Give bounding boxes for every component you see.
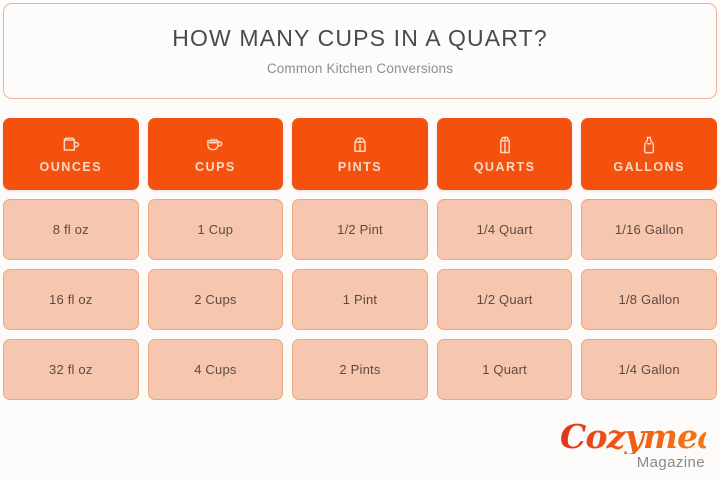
column-header-pints: PINTS xyxy=(292,118,428,190)
coffee-cup-icon xyxy=(205,134,225,156)
cell-gallons: 1/8 Gallon xyxy=(581,269,717,330)
table-row: 8 fl oz 1 Cup 1/2 Pint 1/4 Quart 1/16 Ga… xyxy=(3,199,717,260)
column-header-cups: CUPS xyxy=(148,118,284,190)
cell-cups: 2 Cups xyxy=(148,269,284,330)
cozymeal-logo: Cozymeal Magazine xyxy=(560,420,706,470)
page-title: HOW MANY CUPS IN A QUART? xyxy=(172,26,548,51)
column-header-label: CUPS xyxy=(195,160,236,174)
column-header-ounces: OUNCES xyxy=(3,118,139,190)
cell-quarts: 1/2 Quart xyxy=(437,269,573,330)
pint-carton-icon xyxy=(350,134,370,156)
table-row: 32 fl oz 4 Cups 2 Pints 1 Quart 1/4 Gall… xyxy=(3,339,717,400)
cell-pints: 2 Pints xyxy=(292,339,428,400)
conversion-infographic: HOW MANY CUPS IN A QUART? Common Kitchen… xyxy=(0,0,720,480)
cell-gallons: 1/4 Gallon xyxy=(581,339,717,400)
column-header-label: PINTS xyxy=(338,160,382,174)
cell-quarts: 1/4 Quart xyxy=(437,199,573,260)
title-card: HOW MANY CUPS IN A QUART? Common Kitchen… xyxy=(3,3,717,99)
logo-tagline: Magazine xyxy=(560,455,706,470)
column-header-label: OUNCES xyxy=(40,160,102,174)
quart-carton-icon xyxy=(495,134,515,156)
cell-gallons: 1/16 Gallon xyxy=(581,199,717,260)
cell-ounces: 16 fl oz xyxy=(3,269,139,330)
table-header-row: OUNCES CUPS xyxy=(3,118,717,190)
measuring-pitcher-icon xyxy=(61,134,81,156)
column-header-gallons: GALLONS xyxy=(581,118,717,190)
cell-pints: 1 Pint xyxy=(292,269,428,330)
column-header-label: GALLONS xyxy=(613,160,685,174)
table-row: 16 fl oz 2 Cups 1 Pint 1/2 Quart 1/8 Gal… xyxy=(3,269,717,330)
cell-quarts: 1 Quart xyxy=(437,339,573,400)
cell-ounces: 8 fl oz xyxy=(3,199,139,260)
gallon-jug-icon xyxy=(639,134,659,156)
cell-pints: 1/2 Pint xyxy=(292,199,428,260)
cell-cups: 1 Cup xyxy=(148,199,284,260)
column-header-quarts: QUARTS xyxy=(437,118,573,190)
page-subtitle: Common Kitchen Conversions xyxy=(267,61,453,76)
cell-ounces: 32 fl oz xyxy=(3,339,139,400)
cell-cups: 4 Cups xyxy=(148,339,284,400)
logo-brand-name: Cozymeal xyxy=(560,420,706,454)
column-header-label: QUARTS xyxy=(474,160,536,174)
conversion-table: OUNCES CUPS xyxy=(3,118,717,400)
